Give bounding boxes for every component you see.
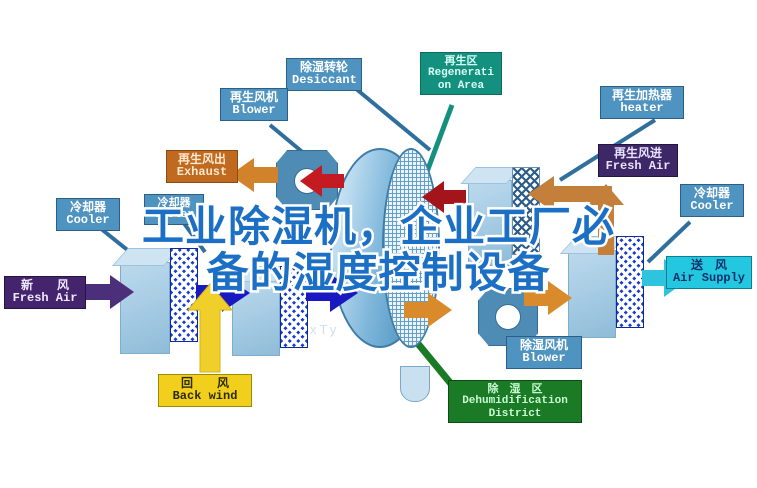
label-exhaust-en: Exhaust [172,166,232,179]
label-dehumidification-district: 除 湿 区 Dehumidification District [448,380,582,423]
label-dehumidification-district-en1: Dehumidification [454,395,576,407]
label-regeneration-blower: 再生风机 Blower [220,88,288,121]
label-back-wind: 回 风 Back wind [158,374,252,407]
label-back-wind-en: Back wind [164,390,246,403]
label-desiccant-wheel-cn: 除湿转轮 [292,61,356,74]
label-back-wind-cn: 回 风 [164,377,246,390]
label-regeneration-heater: 再生加热器 heater [600,86,684,119]
arrow-rotor-to-regenfan [300,165,344,197]
label-regeneration-heater-en: heater [606,102,678,115]
label-desiccant-wheel-en: Desiccant [292,74,356,87]
page-title-line-2: 备的湿度控制设备 [0,250,757,296]
label-regeneration-fresh-air-cn: 再生风进 [604,147,672,160]
watermark-text: xTy [310,322,339,337]
label-dehumidification-blower-en: Blower [512,352,576,365]
page-title-line-1: 工业除湿机，企业工厂必 [0,204,757,250]
label-regeneration-area-en2: on Area [426,80,496,92]
label-regeneration-fresh-air: 再生风进 Fresh Air [598,144,678,177]
label-exhaust: 再生风出 Exhaust [166,150,238,183]
label-regeneration-area-cn: 再生区 [426,55,496,67]
label-regeneration-heater-cn: 再生加热器 [606,89,678,102]
label-regeneration-area-en1: Regenerati [426,67,496,79]
label-dehumidification-district-en2: District [454,408,576,420]
label-regeneration-blower-cn: 再生风机 [226,91,282,104]
label-regeneration-blower-en: Blower [226,104,282,117]
arrow-dehum-out [404,293,452,327]
label-regeneration-fresh-air-en: Fresh Air [604,160,672,173]
label-desiccant-wheel: 除湿转轮 Desiccant [286,58,362,91]
page-title: 工业除湿机，企业工厂必 备的湿度控制设备 [0,204,757,296]
dehumidifier-diagram: 除湿转轮 Desiccant 再生风机 Blower 再生区 Regenerat… [0,0,757,488]
label-dehumidification-blower: 除湿风机 Blower [506,336,582,369]
label-regeneration-area: 再生区 Regenerati on Area [420,52,502,95]
label-dehumidification-district-cn: 除 湿 区 [454,383,576,395]
label-dehumidification-blower-cn: 除湿风机 [512,339,576,352]
label-cooler-upper-right-cn: 冷却器 [686,187,738,200]
label-exhaust-cn: 再生风出 [172,153,232,166]
